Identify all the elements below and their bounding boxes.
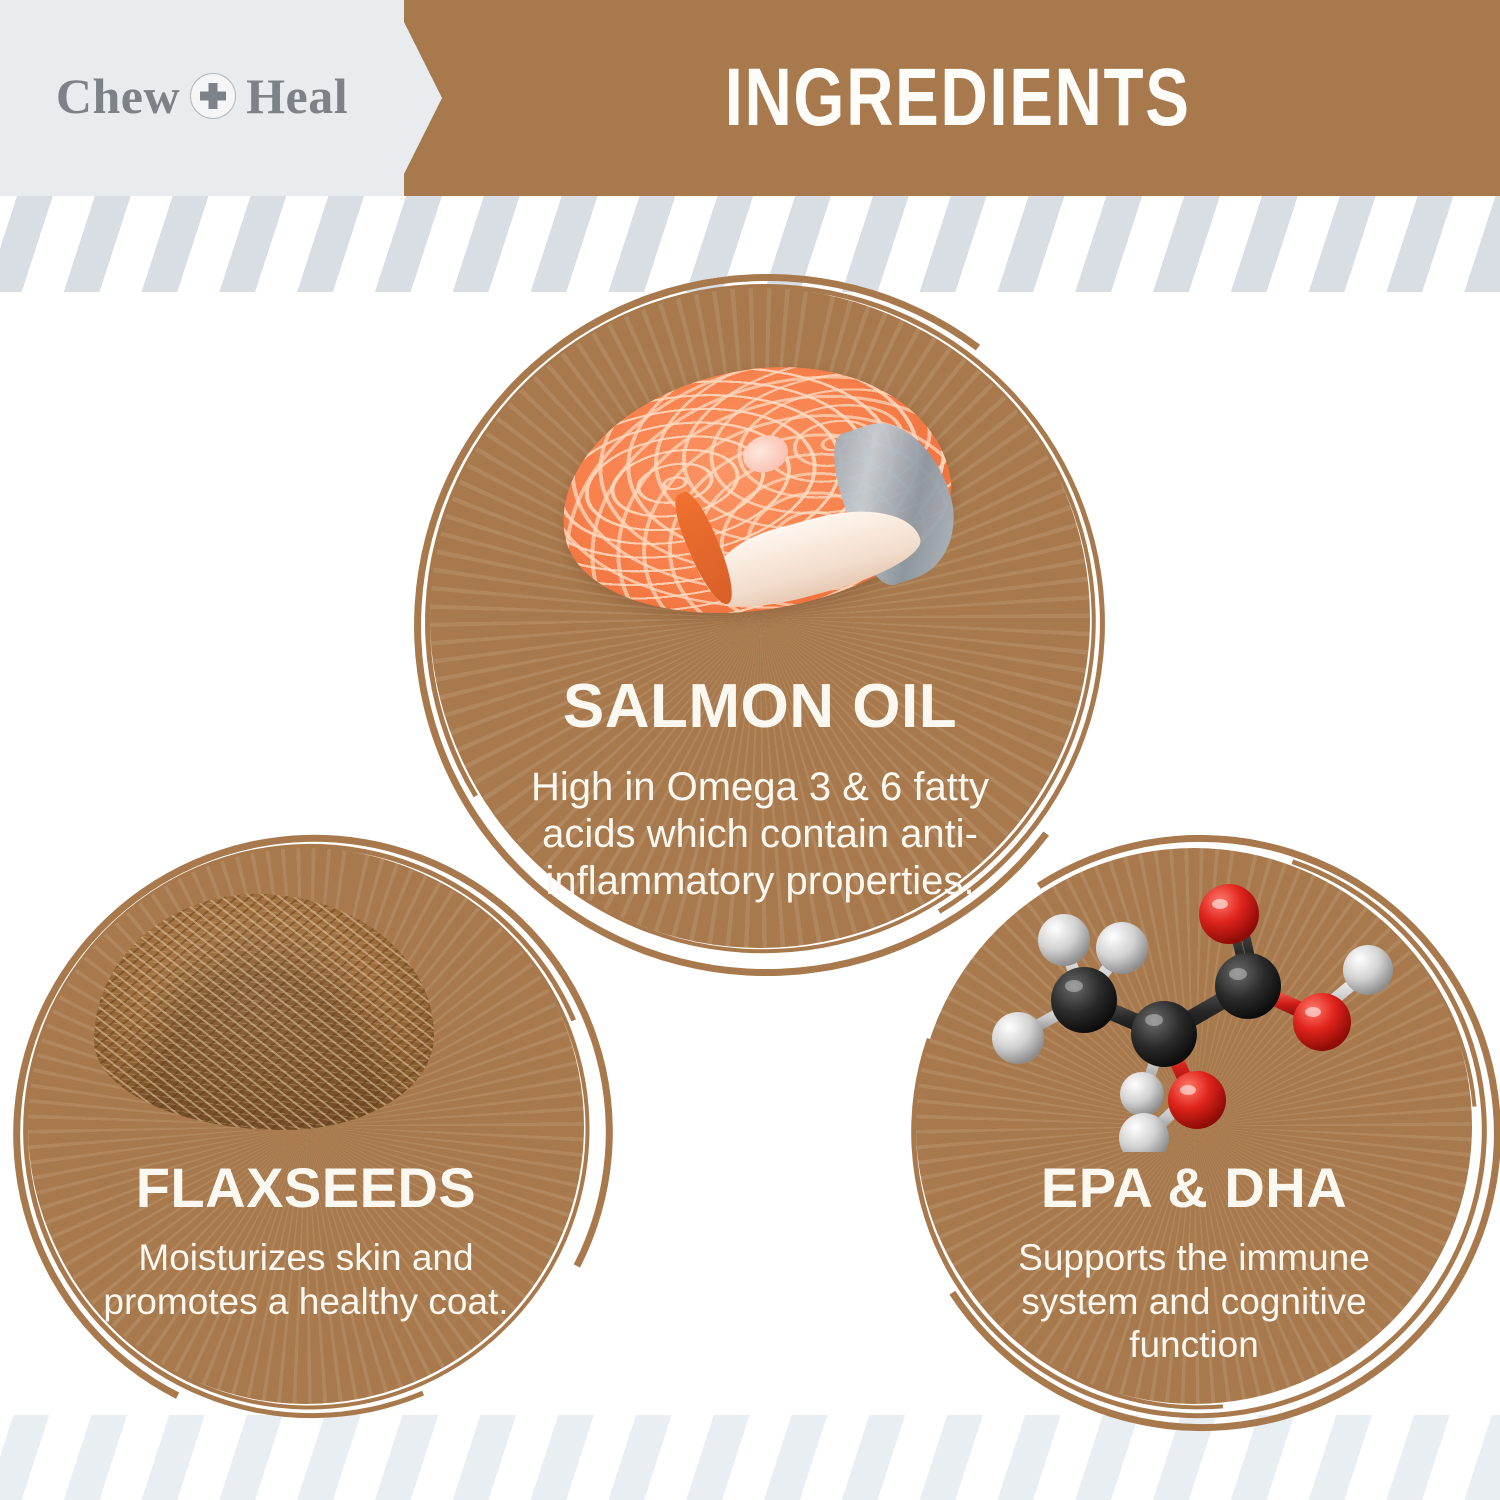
plus-in-circle-icon [190, 73, 236, 119]
brand-logo-panel: Chew Heal [0, 0, 420, 196]
flaxseeds-text: FLAXSEEDS Moisturizes skin and promotes … [28, 848, 584, 1404]
diagonal-stripes-top [0, 196, 1500, 292]
ingredient-card-flaxseeds: FLAXSEEDS Moisturizes skin and promotes … [28, 848, 584, 1404]
ingredient-title-salmon-oil: SALMON OIL [563, 676, 957, 738]
brand-name-right: Heal [246, 71, 348, 121]
page-title: INGREDIENTS [514, 51, 1391, 145]
banner-chevron-notch-icon [404, 22, 442, 174]
epa-dha-text: EPA & DHA Supports the immune system and… [916, 848, 1472, 1404]
ingredient-title-epa-dha: EPA & DHA [1041, 1160, 1347, 1216]
diagonal-stripes-bottom [0, 1415, 1500, 1500]
header: Chew Heal INGREDIENTS [0, 0, 1500, 196]
brand-name-left: Chew [56, 71, 180, 121]
ingredient-card-epa-dha: EPA & DHA Supports the immune system and… [916, 848, 1472, 1404]
ingredient-description-epa-dha: Supports the immune system and cognitive… [959, 1236, 1429, 1367]
ingredient-title-flaxseeds: FLAXSEEDS [136, 1160, 477, 1216]
ingredients-infographic: Chew Heal INGREDIENTS S [0, 0, 1500, 1500]
header-banner: INGREDIENTS [404, 0, 1500, 196]
ingredient-description-flaxseeds: Moisturizes skin and promotes a healthy … [96, 1236, 516, 1323]
brand-logo: Chew Heal [56, 71, 348, 121]
